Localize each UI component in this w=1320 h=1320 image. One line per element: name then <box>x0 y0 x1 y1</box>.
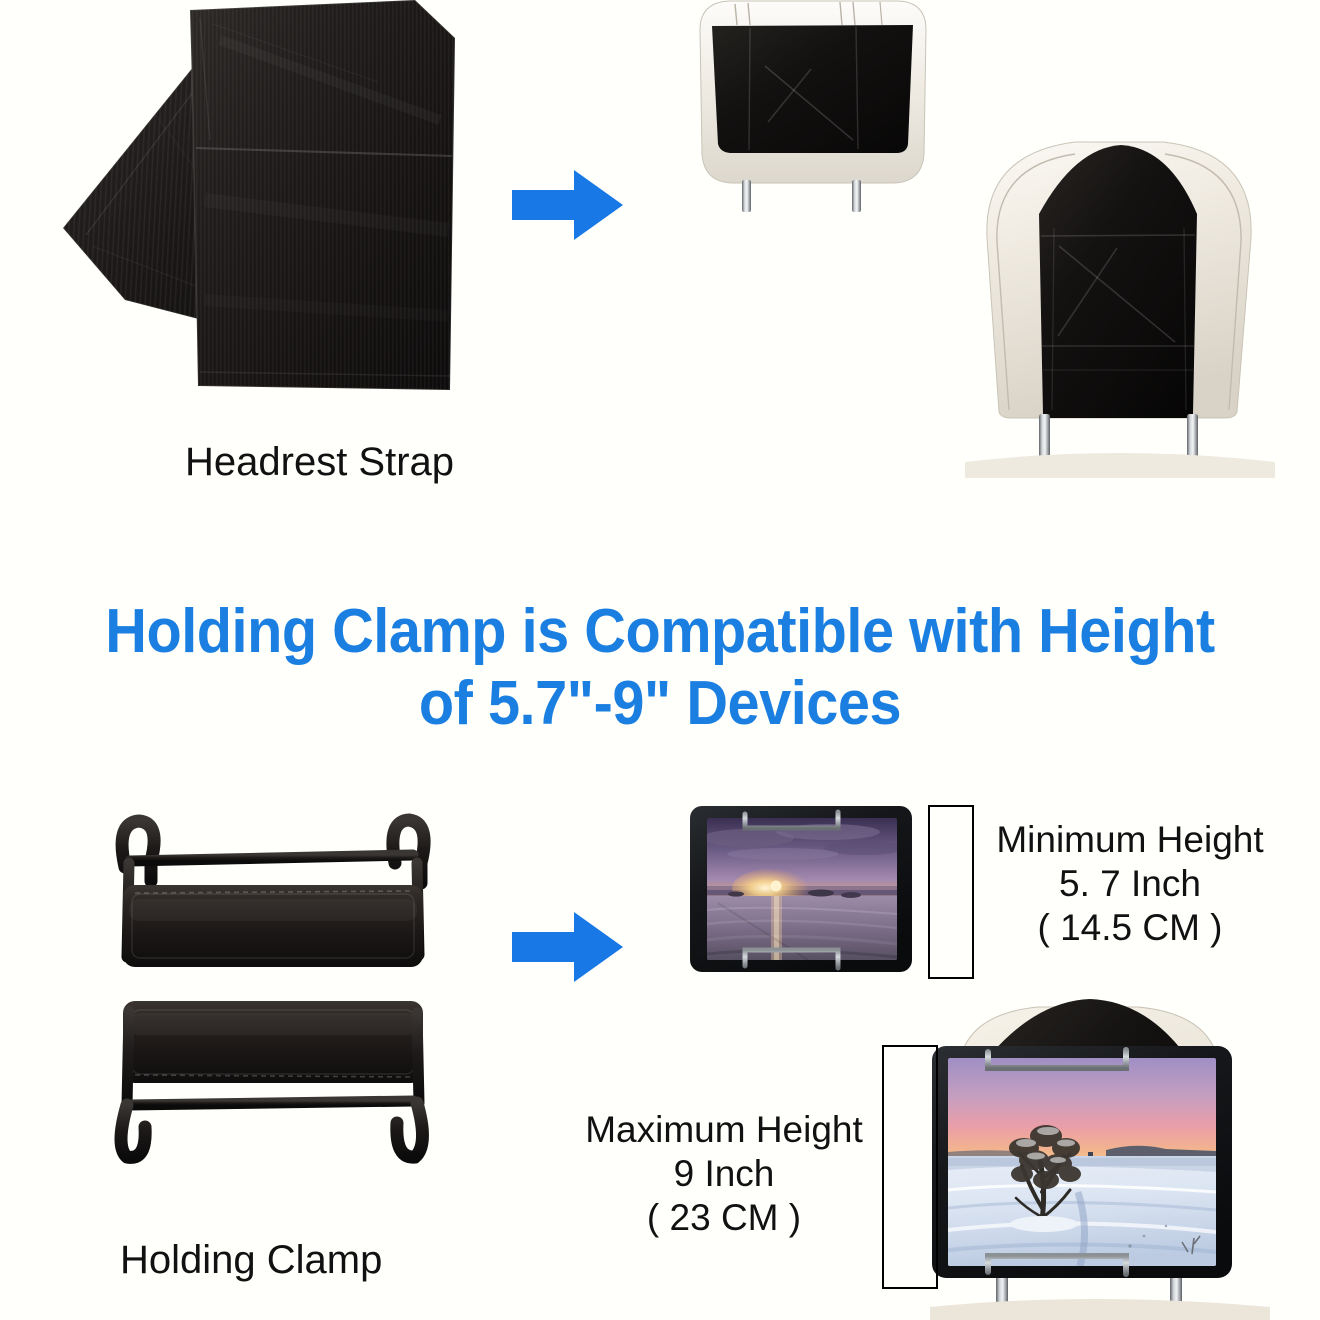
clamp-lower <box>121 1001 423 1157</box>
page-headline: Holding Clamp is Compatible with Height … <box>46 596 1274 740</box>
blue-right-arrow-bottom <box>512 910 624 984</box>
headrest-strap-label: Headrest Strap <box>185 440 454 485</box>
headline-line-1: Holding Clamp is Compatible with Height <box>46 596 1274 668</box>
minimum-height-measure-bracket <box>928 805 974 979</box>
headline-line-2: of 5.7"-9" Devices <box>46 668 1274 740</box>
holding-clamp-label: Holding Clamp <box>120 1238 382 1283</box>
product-infographic: Headrest Strap <box>0 0 1320 1320</box>
clamp-upper <box>122 820 424 967</box>
minimum-height-title: Minimum Height <box>975 818 1285 862</box>
tablet-large-image <box>930 1040 1260 1290</box>
blue-right-arrow-top <box>512 168 624 242</box>
holding-clamp-image <box>95 805 475 1195</box>
maximum-height-title: Maximum Height <box>565 1108 883 1152</box>
arrow-right-icon <box>512 910 624 984</box>
minimum-height-inches: 5. 7 Inch <box>975 862 1285 906</box>
maximum-height-cm: ( 23 CM ) <box>565 1196 883 1240</box>
maximum-height-inches: 9 Inch <box>565 1152 883 1196</box>
maximum-height-text-block: Maximum Height 9 Inch ( 23 CM ) <box>565 1108 883 1240</box>
arrow-right-icon <box>512 168 624 242</box>
tablet-small-image <box>688 798 950 980</box>
maximum-height-measure-bracket <box>882 1045 938 1289</box>
headrest-strap-image <box>0 0 520 420</box>
minimum-height-cm: ( 14.5 CM ) <box>975 906 1285 950</box>
headrest-large-image <box>925 118 1315 478</box>
minimum-height-text-block: Minimum Height 5. 7 Inch ( 14.5 CM ) <box>975 818 1285 950</box>
headrest-small-image <box>690 0 940 242</box>
